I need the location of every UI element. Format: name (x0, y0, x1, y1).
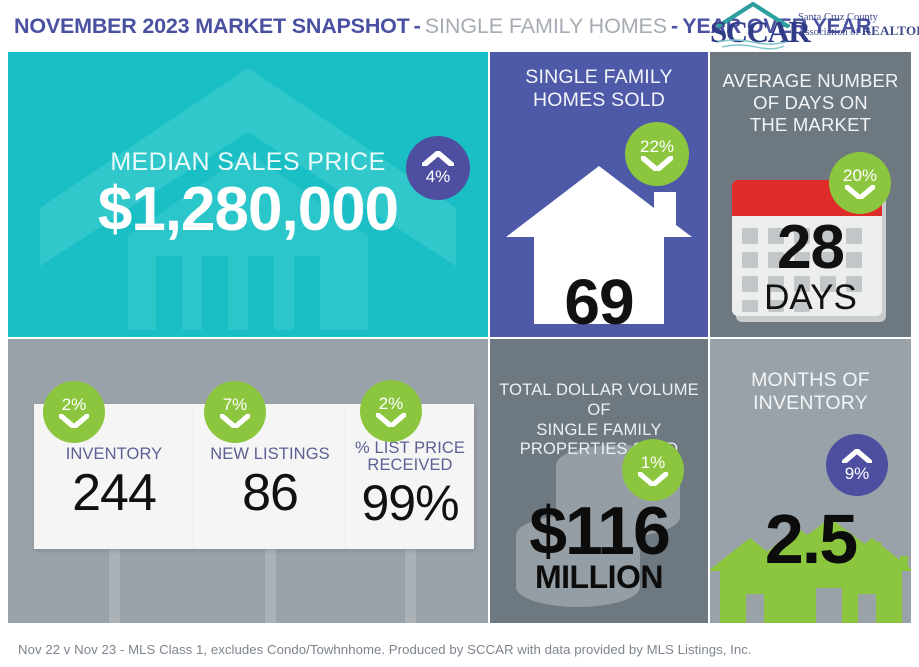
title-bold-primary: NOVEMBER 2023 MARKET SNAPSHOT (14, 14, 410, 39)
badge-total-volume-change: 1% (622, 439, 684, 501)
total-volume-value: $116 (490, 497, 708, 565)
sign-list-price-received: % LIST PRICE RECEIVED 99% 2% (346, 404, 474, 619)
days-on-market-title: AVERAGE NUMBER OF DAYS ON THE MARKET (710, 70, 911, 137)
panel-median-sales-price: MEDIAN SALES PRICE $1,280,000 4% (8, 52, 488, 337)
dom-title-line2: OF DAYS ON (710, 92, 911, 114)
sign-inventory-label: INVENTORY (66, 446, 163, 463)
badge-new-listings-pct: 7% (223, 396, 248, 413)
dom-title-line1: AVERAGE NUMBER (710, 70, 911, 92)
homes-sold-value: 69 (490, 270, 708, 334)
sign-post (109, 544, 120, 623)
moi-title-line2: INVENTORY (710, 392, 911, 415)
homes-sold-title-line2: HOMES SOLD (490, 89, 708, 112)
badge-new-listings-change: 7% (204, 381, 266, 443)
moi-title-line1: MONTHS OF (710, 369, 911, 392)
badge-homes-sold-pct: 22% (640, 138, 674, 155)
logo-wave-icon (716, 38, 788, 50)
arrow-down-icon (641, 156, 673, 171)
page-footer: Nov 22 v Nov 23 - MLS Class 1, excludes … (0, 632, 919, 667)
arrow-down-icon (638, 472, 668, 486)
sign-inventory: INVENTORY 244 2% (34, 404, 194, 619)
sign-new-listings: NEW LISTINGS 86 7% (194, 404, 346, 619)
badge-total-volume-pct: 1% (641, 454, 666, 471)
sign-new-listings-label: NEW LISTINGS (210, 446, 329, 463)
badge-months-inventory-pct: 9% (845, 465, 870, 482)
sign-list-price-label-line1: % LIST PRICE (355, 440, 465, 457)
panel-days-on-market: AVERAGE NUMBER OF DAYS ON THE MARKET (710, 52, 911, 337)
sign-post (405, 544, 416, 623)
median-price-content: MEDIAN SALES PRICE $1,280,000 (8, 52, 488, 337)
badge-days-on-market-pct: 20% (843, 167, 877, 184)
homes-sold-title: SINGLE FAMILY HOMES SOLD (490, 66, 708, 112)
months-inventory-title: MONTHS OF INVENTORY (710, 369, 911, 416)
logo-assoc-prefix: Association of (798, 27, 862, 38)
arrow-down-icon (376, 413, 406, 427)
logo-line-2: Association of REALTORS® (798, 24, 919, 39)
arrow-down-icon (845, 185, 875, 199)
volume-title-line1: TOTAL DOLLAR VOLUME OF (490, 381, 708, 421)
logo-realtors: REALTORS (862, 23, 919, 38)
median-price-label: MEDIAN SALES PRICE (110, 148, 385, 177)
sign-list-price-value: 99% (361, 478, 458, 528)
badge-days-on-market-change: 20% (829, 152, 891, 214)
panel-total-dollar-volume: TOTAL DOLLAR VOLUME OF SINGLE FAMILY PRO… (490, 339, 708, 623)
badge-homes-sold-change: 22% (625, 122, 689, 186)
page-header: NOVEMBER 2023 MARKET SNAPSHOT - SINGLE F… (0, 0, 919, 52)
badge-list-price-change: 2% (360, 380, 422, 442)
badge-inventory-pct: 2% (62, 396, 87, 413)
badge-months-inventory-change: 9% (826, 434, 888, 496)
arrow-up-icon (842, 449, 872, 463)
sign-list-price-label-line2: RECEIVED (367, 457, 452, 474)
title-separator-2: - (667, 14, 682, 39)
badge-median-price-change: 4% (406, 136, 470, 200)
panel-grid: MEDIAN SALES PRICE $1,280,000 4% SINGLE … (8, 52, 911, 623)
title-subtitle: SINGLE FAMILY HOMES (425, 14, 667, 39)
days-on-market-value: 28 (710, 217, 911, 279)
days-on-market-unit: DAYS (710, 280, 911, 315)
badge-median-price-pct: 4% (426, 168, 451, 185)
arrow-down-icon (220, 414, 250, 428)
badge-inventory-change: 2% (43, 381, 105, 443)
sign-new-listings-value: 86 (242, 467, 298, 519)
dom-title-line3: THE MARKET (710, 114, 911, 136)
infographic-root: NOVEMBER 2023 MARKET SNAPSHOT - SINGLE F… (0, 0, 919, 667)
logo-text-block: Santa Cruz County Association of REALTOR… (798, 12, 919, 39)
title-separator-1: - (410, 14, 425, 39)
arrow-up-icon (422, 151, 454, 166)
median-price-value: $1,280,000 (98, 179, 398, 241)
homes-sold-title-line1: SINGLE FAMILY (490, 66, 708, 89)
months-inventory-value: 2.5 (710, 504, 911, 574)
panel-yard-signs: INVENTORY 244 2% NEW LISTINGS 86 (8, 339, 488, 623)
sign-inventory-value: 244 (72, 467, 156, 519)
sign-post (265, 544, 276, 623)
arrow-down-icon (59, 414, 89, 428)
sccar-logo: SCCAR Santa Cruz County Association of R… (708, 2, 913, 52)
panel-months-of-inventory: MONTHS OF INVENTORY 2.5 (710, 339, 911, 623)
panel-homes-sold: SINGLE FAMILY HOMES SOLD 69 22% (490, 52, 708, 337)
badge-list-price-pct: 2% (379, 395, 404, 412)
volume-title-line2: SINGLE FAMILY (490, 421, 708, 441)
total-volume-unit: MILLION (490, 561, 708, 593)
footer-disclaimer: Nov 22 v Nov 23 - MLS Class 1, excludes … (18, 642, 752, 657)
